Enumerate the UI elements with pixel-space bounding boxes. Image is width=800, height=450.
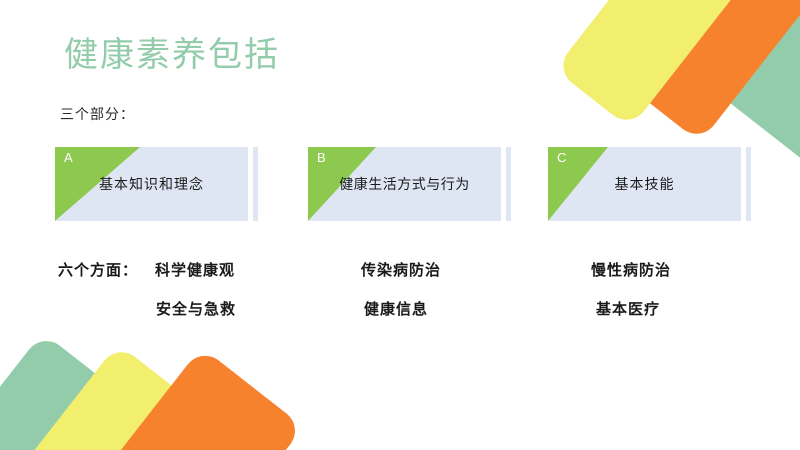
- slide-subtitle: 三个部分：: [60, 104, 135, 124]
- aspect-item-2: 传染病防治: [361, 259, 441, 280]
- part-card-b[interactable]: B 健康生活方式与行为: [308, 147, 501, 221]
- slide-title: 健康素养包括: [64, 33, 280, 77]
- aspect-item-1: 科学健康观: [155, 259, 235, 280]
- part-card-b-letter: B: [317, 150, 326, 166]
- part-card-c-accent-bar: [746, 147, 751, 221]
- ribbon-bottom-left-green: [0, 332, 118, 450]
- part-card-c-letter: C: [557, 150, 566, 166]
- part-card-a-letter: A: [64, 150, 73, 166]
- aspect-item-4: 安全与急救: [156, 298, 236, 319]
- part-card-c-label: 基本技能: [548, 174, 741, 194]
- aspects-label: 六个方面：: [58, 259, 138, 280]
- part-card-c[interactable]: C 基本技能: [548, 147, 741, 221]
- part-card-a[interactable]: A 基本知识和理念: [55, 147, 248, 221]
- aspect-item-3: 慢性病防治: [591, 259, 671, 280]
- aspect-item-6: 基本医疗: [596, 298, 660, 319]
- ribbon-top-right-yellow: [555, 0, 800, 129]
- part-card-b-accent-bar: [506, 147, 511, 221]
- ribbon-bottom-left-orange: [0, 347, 304, 450]
- part-card-a-accent-bar: [253, 147, 258, 221]
- part-card-b-label: 健康生活方式与行为: [308, 174, 501, 194]
- ribbon-bottom-left-yellow: [0, 343, 193, 450]
- part-card-a-label: 基本知识和理念: [55, 174, 248, 194]
- ribbon-top-right-orange: [625, 0, 800, 143]
- aspect-item-5: 健康信息: [364, 298, 428, 319]
- slide-canvas: 健康素养包括 三个部分： A 基本知识和理念 B 健康生活方式与行为 C 基本技…: [0, 0, 800, 450]
